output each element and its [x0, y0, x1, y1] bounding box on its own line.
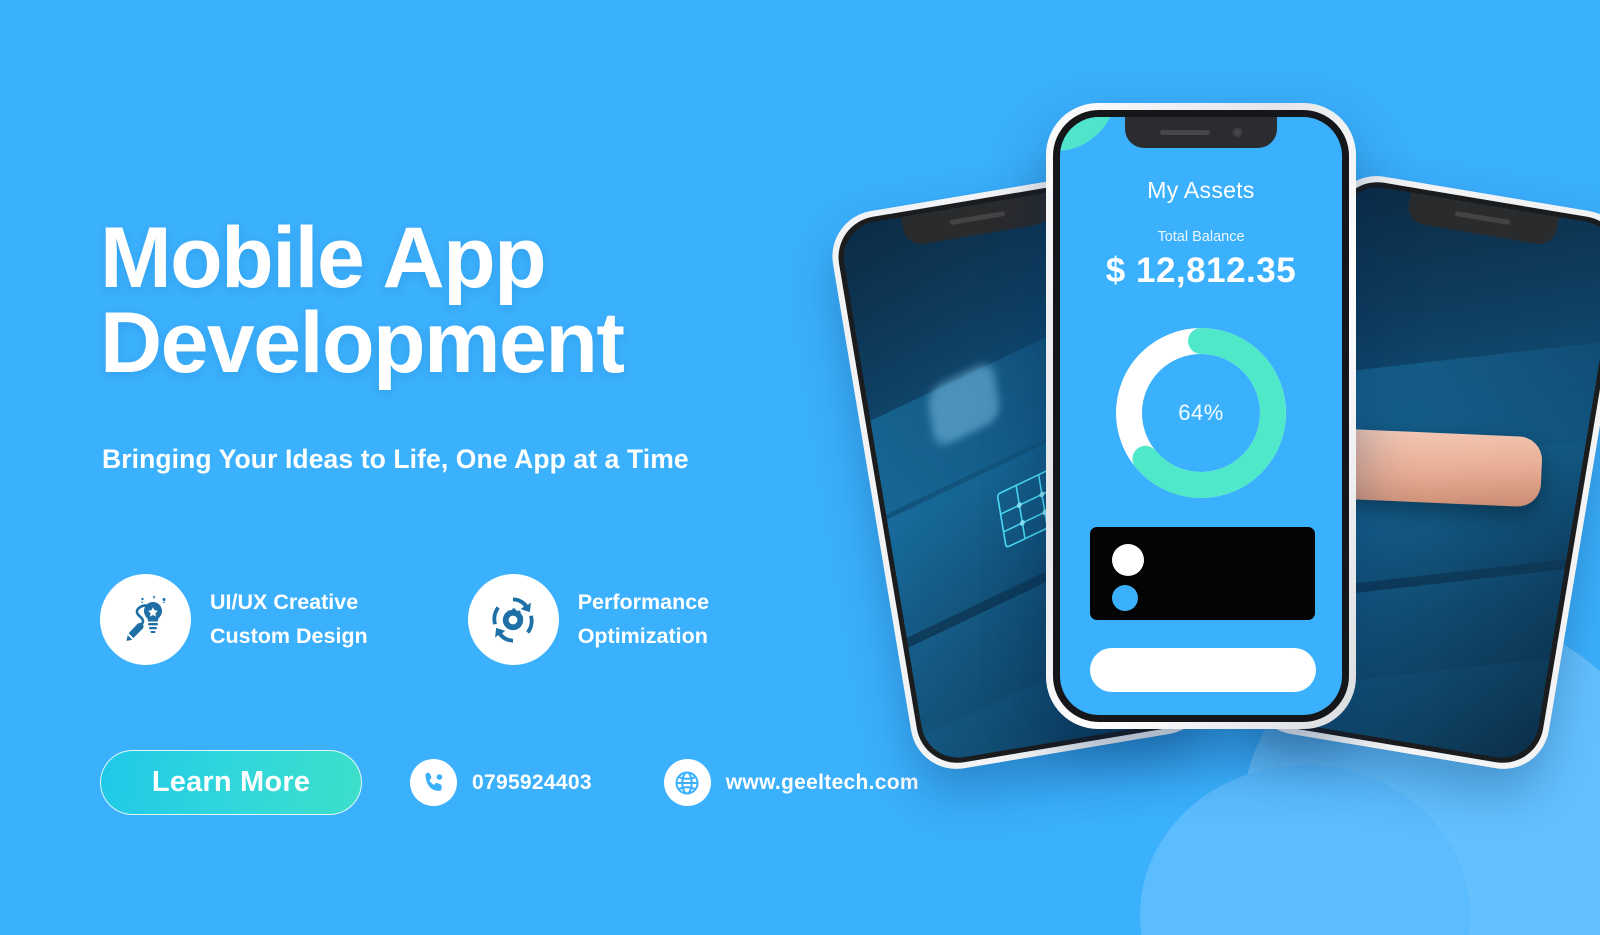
pencil-lightbulb-icon [100, 574, 191, 665]
front-phone: My Assets Total Balance $ 12,812.35 64% [1046, 103, 1356, 729]
phone-number: 0795924403 [472, 771, 592, 795]
hero-banner: Mobile App Development Bringing Your Ide… [0, 0, 1600, 935]
gear-refresh-icon [468, 574, 559, 665]
card-bullet-primary [1112, 544, 1144, 576]
camera-icon [1232, 127, 1243, 138]
donut-center-label: 64% [1109, 321, 1293, 505]
decorative-teal-corner [1060, 117, 1116, 151]
page-title: Mobile App Development [100, 216, 860, 386]
balance-value: $ 12,812.35 [1060, 251, 1342, 291]
balance-label: Total Balance [1060, 229, 1342, 245]
phone-icon [410, 759, 457, 806]
transaction-card[interactable] [1090, 527, 1315, 620]
app-screen: My Assets Total Balance $ 12,812.35 64% [1060, 117, 1342, 715]
app-title: My Assets [1060, 177, 1342, 204]
cta-row: Learn More 0795924403 [100, 750, 919, 815]
feature-list: UI/UX Creative Custom Design [100, 574, 709, 665]
app-action-button[interactable] [1090, 648, 1316, 692]
donut-chart: 64% [1109, 321, 1293, 505]
card-bullet-secondary [1112, 585, 1138, 611]
globe-icon [664, 759, 711, 806]
learn-more-button[interactable]: Learn More [100, 750, 362, 815]
speaker-icon [1160, 130, 1210, 135]
phone-mockup-group: My Assets Total Balance $ 12,812.35 64% [850, 0, 1600, 935]
phone-notch [1125, 117, 1277, 148]
feature-item-performance: Performance Optimization [468, 574, 709, 665]
feature-label: UI/UX Creative Custom Design [210, 586, 368, 653]
page-subtitle: Bringing Your Ideas to Life, One App at … [102, 444, 689, 475]
contact-phone[interactable]: 0795924403 [410, 759, 592, 806]
feature-label: Performance Optimization [578, 586, 709, 653]
feature-item-uiux: UI/UX Creative Custom Design [100, 574, 368, 665]
hero-content: Mobile App Development Bringing Your Ide… [100, 0, 930, 935]
